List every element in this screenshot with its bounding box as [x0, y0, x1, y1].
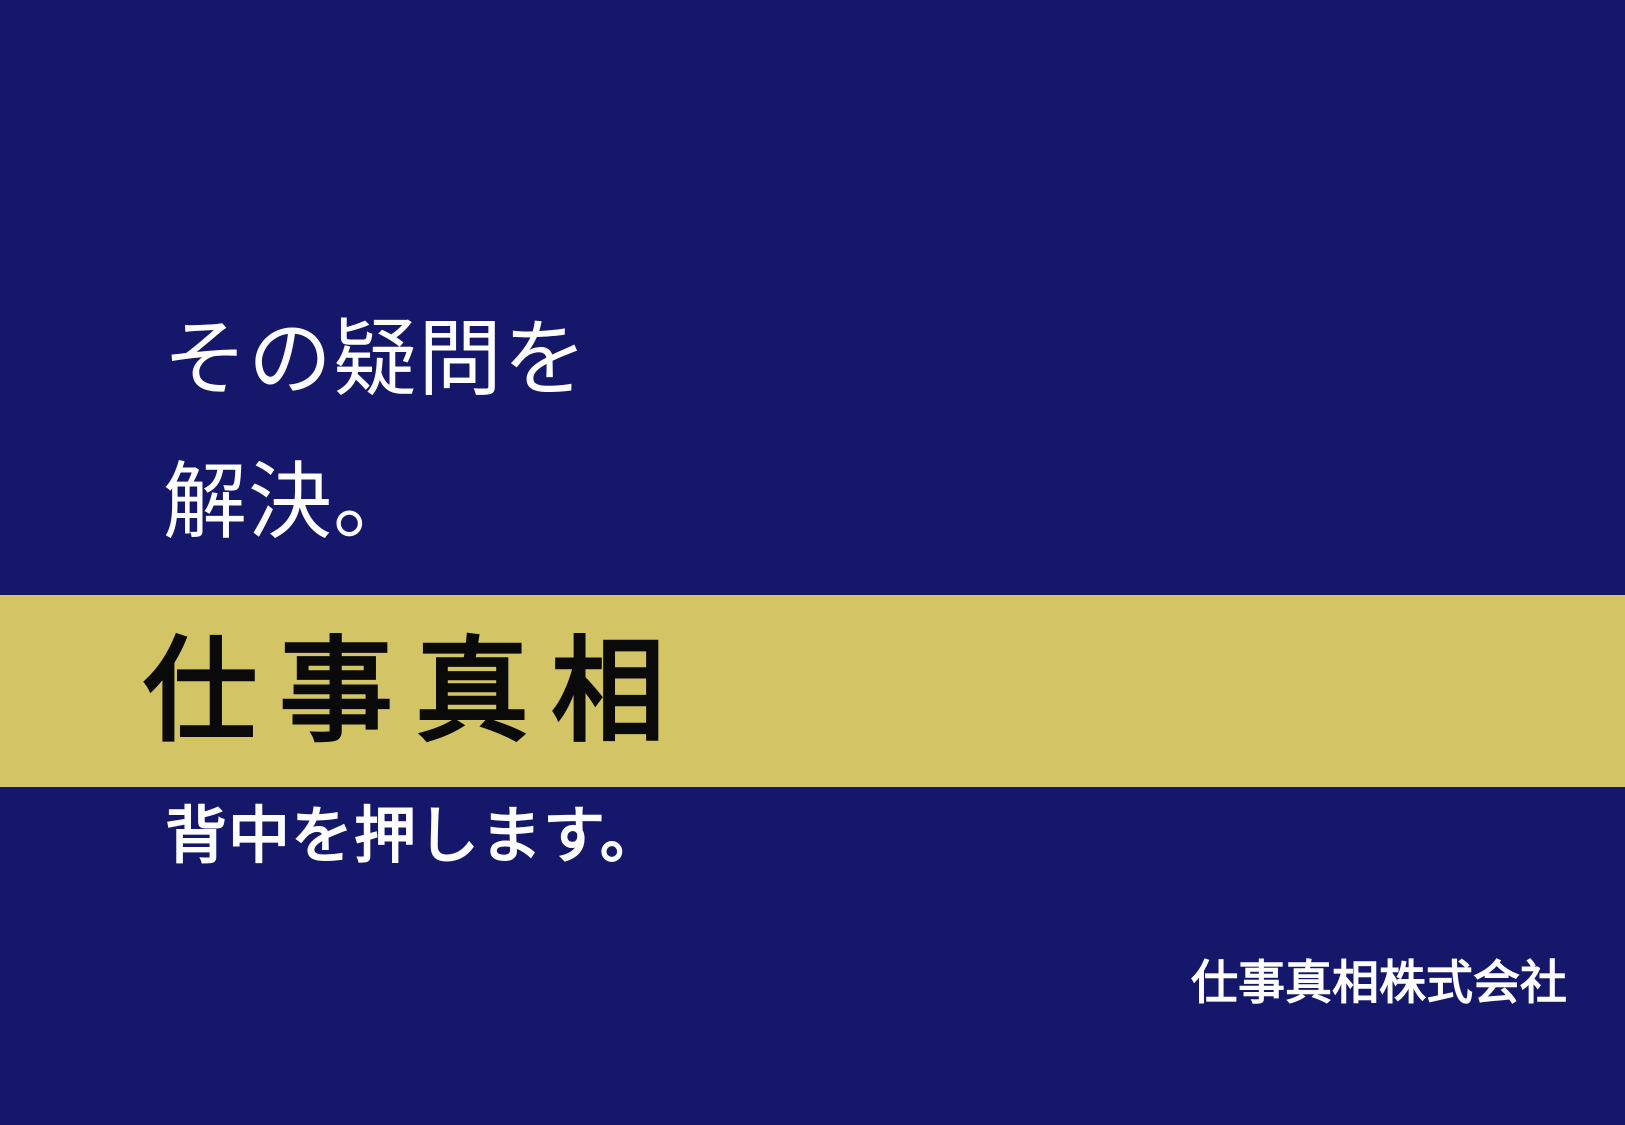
- tagline-line-2: 解決。: [163, 431, 418, 574]
- logo-band: 仕事真相: [0, 595, 1625, 787]
- poster-canvas: その疑問を 解決。 仕事真相 背中を押します。 仕事真相株式会社: [0, 0, 1625, 1125]
- subline-text: 背中を押します。: [165, 790, 663, 882]
- company-name: 仕事真相株式会社: [1191, 953, 1567, 1015]
- tagline-line-1: その疑問を: [163, 288, 588, 431]
- logo-wordmark: 仕事真相: [143, 603, 687, 779]
